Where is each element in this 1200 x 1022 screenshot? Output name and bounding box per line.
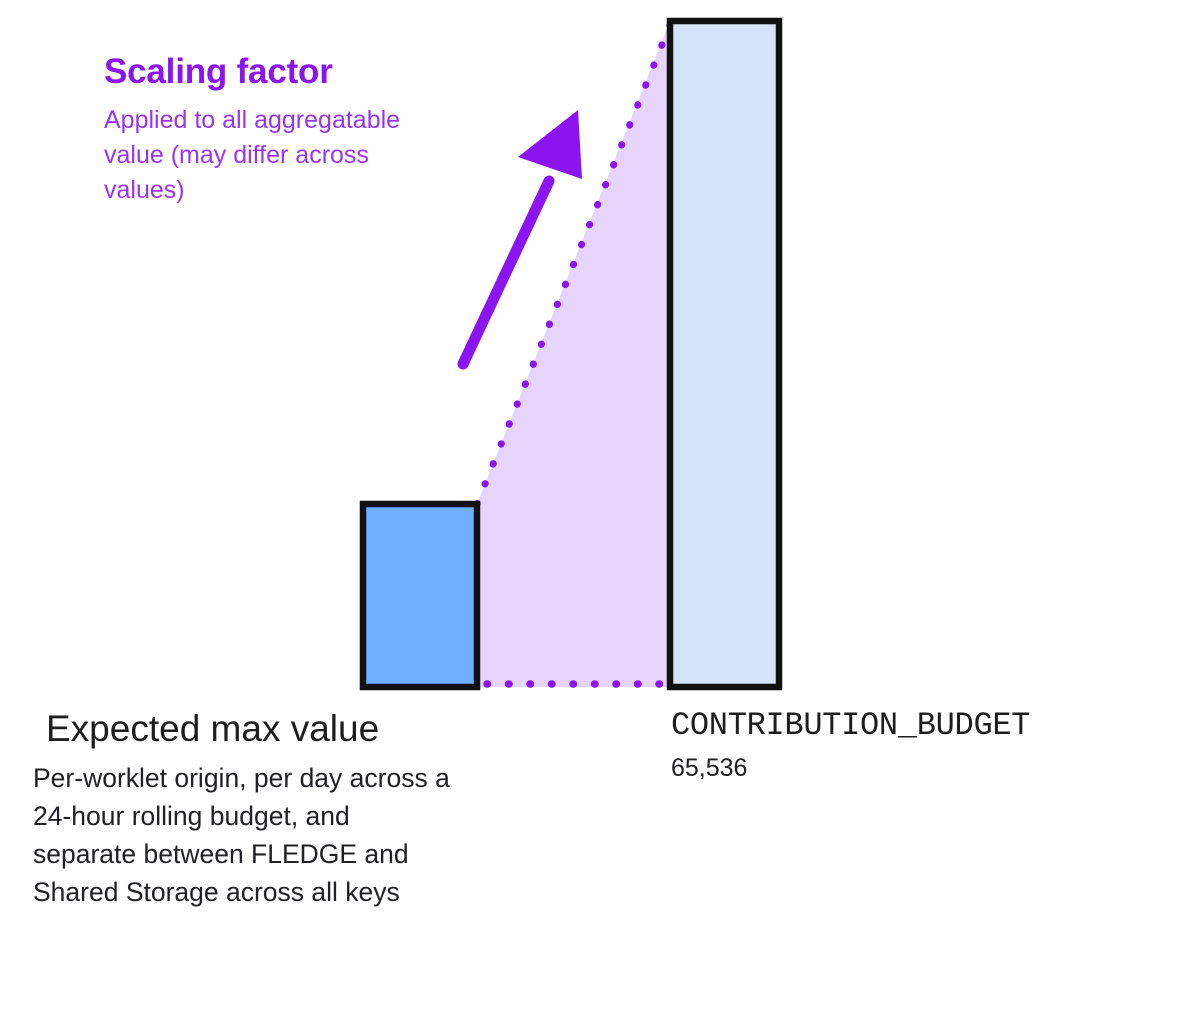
expected-max-value-description: Per-worklet origin, per day across a 24-… [33, 759, 453, 911]
expected-max-value-label: Expected max value Per-worklet origin, p… [33, 705, 503, 911]
contribution-budget-title: CONTRIBUTION_BUDGET [671, 705, 1191, 747]
expected-max-value-title: Expected max value [46, 705, 503, 753]
expected-max-value-bar [363, 504, 480, 690]
contribution-budget-value: 65,536 [671, 751, 1191, 785]
annotation-title: Scaling factor [104, 50, 434, 94]
diagram-canvas: Scaling factor Applied to all aggregatab… [0, 0, 1200, 1022]
contribution-budget-label: CONTRIBUTION_BUDGET 65,536 [671, 705, 1191, 785]
contribution-budget-bar [670, 21, 782, 687]
annotation-body: Applied to all aggregatable value (may d… [104, 103, 434, 208]
scaling-factor-annotation: Scaling factor Applied to all aggregatab… [104, 50, 434, 208]
